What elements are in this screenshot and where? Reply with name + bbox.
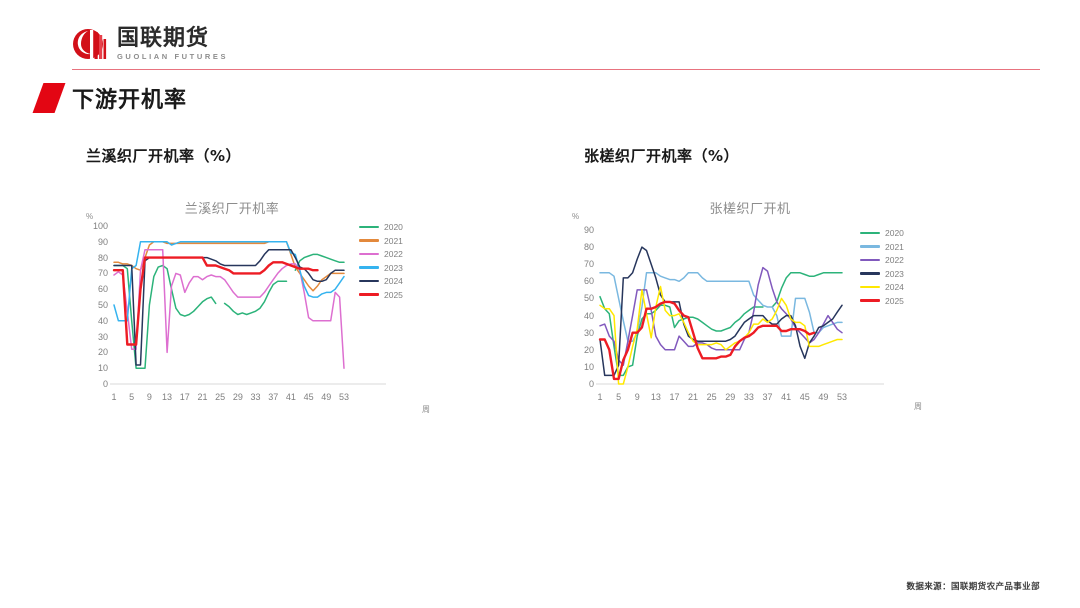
data-source-note: 数据来源：国联期货农产品事业部 [906,580,1040,592]
page-title: 下游开机率 [72,82,187,114]
guolian-logo-icon [72,24,108,64]
legend-swatch-icon [860,286,880,289]
accent-slash-icon [33,83,66,113]
chart-zhangcha: 张槎织厂开机 % 周 0102030405060708090 159131721… [570,196,980,451]
legend-item-2021[interactable]: 2021 [359,236,403,246]
section-heading: 下游开机率 [38,82,187,114]
legend-label: 2021 [384,236,403,246]
chart-panel-lanxi: 兰溪织厂开机率（%） 兰溪织厂开机率 % 周 01020304050607080… [72,145,542,475]
legend-label: 2020 [885,228,904,238]
page-header: 国联期货 GUOLIAN FUTURES [0,0,1080,80]
legend-item-2020[interactable]: 2020 [359,222,403,232]
legend-item-2021[interactable]: 2021 [860,242,904,252]
legend-swatch-icon [359,293,379,296]
brand-wordmark: 国联期货 GUOLIAN FUTURES [117,28,228,61]
legend-item-2025[interactable]: 2025 [860,296,904,306]
legend-item-2020[interactable]: 2020 [860,228,904,238]
legend-swatch-icon [359,239,379,242]
legend-label: 2021 [885,242,904,252]
legend-swatch-icon [359,280,379,283]
series-line-2022 [600,268,842,366]
legend-label: 2024 [885,282,904,292]
legend-item-2023[interactable]: 2023 [359,263,403,273]
chart-panel-zhangcha: 张槎织厂开机率（%） 张槎织厂开机 % 周 010203040506070809… [570,145,1040,475]
legend-swatch-icon [359,266,379,269]
legend-swatch-icon [860,299,880,302]
panel-caption: 张槎织厂开机率（%） [584,145,1040,166]
brand-name-en: GUOLIAN FUTURES [117,53,228,61]
chart-legend: 202020212022202320242025 [359,222,403,300]
legend-item-2025[interactable]: 2025 [359,290,403,300]
series-line-2020 [225,281,287,314]
legend-label: 2022 [885,255,904,265]
panel-caption: 兰溪织厂开机率（%） [86,145,542,166]
series-line-2020 [600,297,763,376]
legend-label: 2022 [384,249,403,259]
legend-item-2024[interactable]: 2024 [359,276,403,286]
legend-swatch-icon [860,245,880,248]
plot-area [72,196,472,451]
legend-swatch-icon [860,272,880,275]
legend-label: 2025 [384,290,403,300]
legend-label: 2023 [384,263,403,273]
legend-item-2023[interactable]: 2023 [860,269,904,279]
legend-swatch-icon [860,259,880,262]
series-line-2025 [600,302,814,379]
chart-lanxi: 兰溪织厂开机率 % 周 0102030405060708090100 15913… [72,196,472,451]
legend-swatch-icon [359,226,379,229]
brand-logo: 国联期货 GUOLIAN FUTURES [72,24,228,64]
plot-area [570,196,980,451]
series-line-2020 [772,273,842,307]
legend-label: 2020 [384,222,403,232]
brand-name-cn: 国联期货 [117,28,228,50]
legend-label: 2024 [384,276,403,286]
legend-swatch-icon [359,253,379,256]
legend-label: 2025 [885,296,904,306]
legend-item-2022[interactable]: 2022 [359,249,403,259]
legend-swatch-icon [860,232,880,235]
legend-item-2022[interactable]: 2022 [860,255,904,265]
chart-legend: 202020212022202320242025 [860,228,904,306]
header-divider [72,69,1040,70]
legend-label: 2023 [885,269,904,279]
legend-item-2024[interactable]: 2024 [860,282,904,292]
